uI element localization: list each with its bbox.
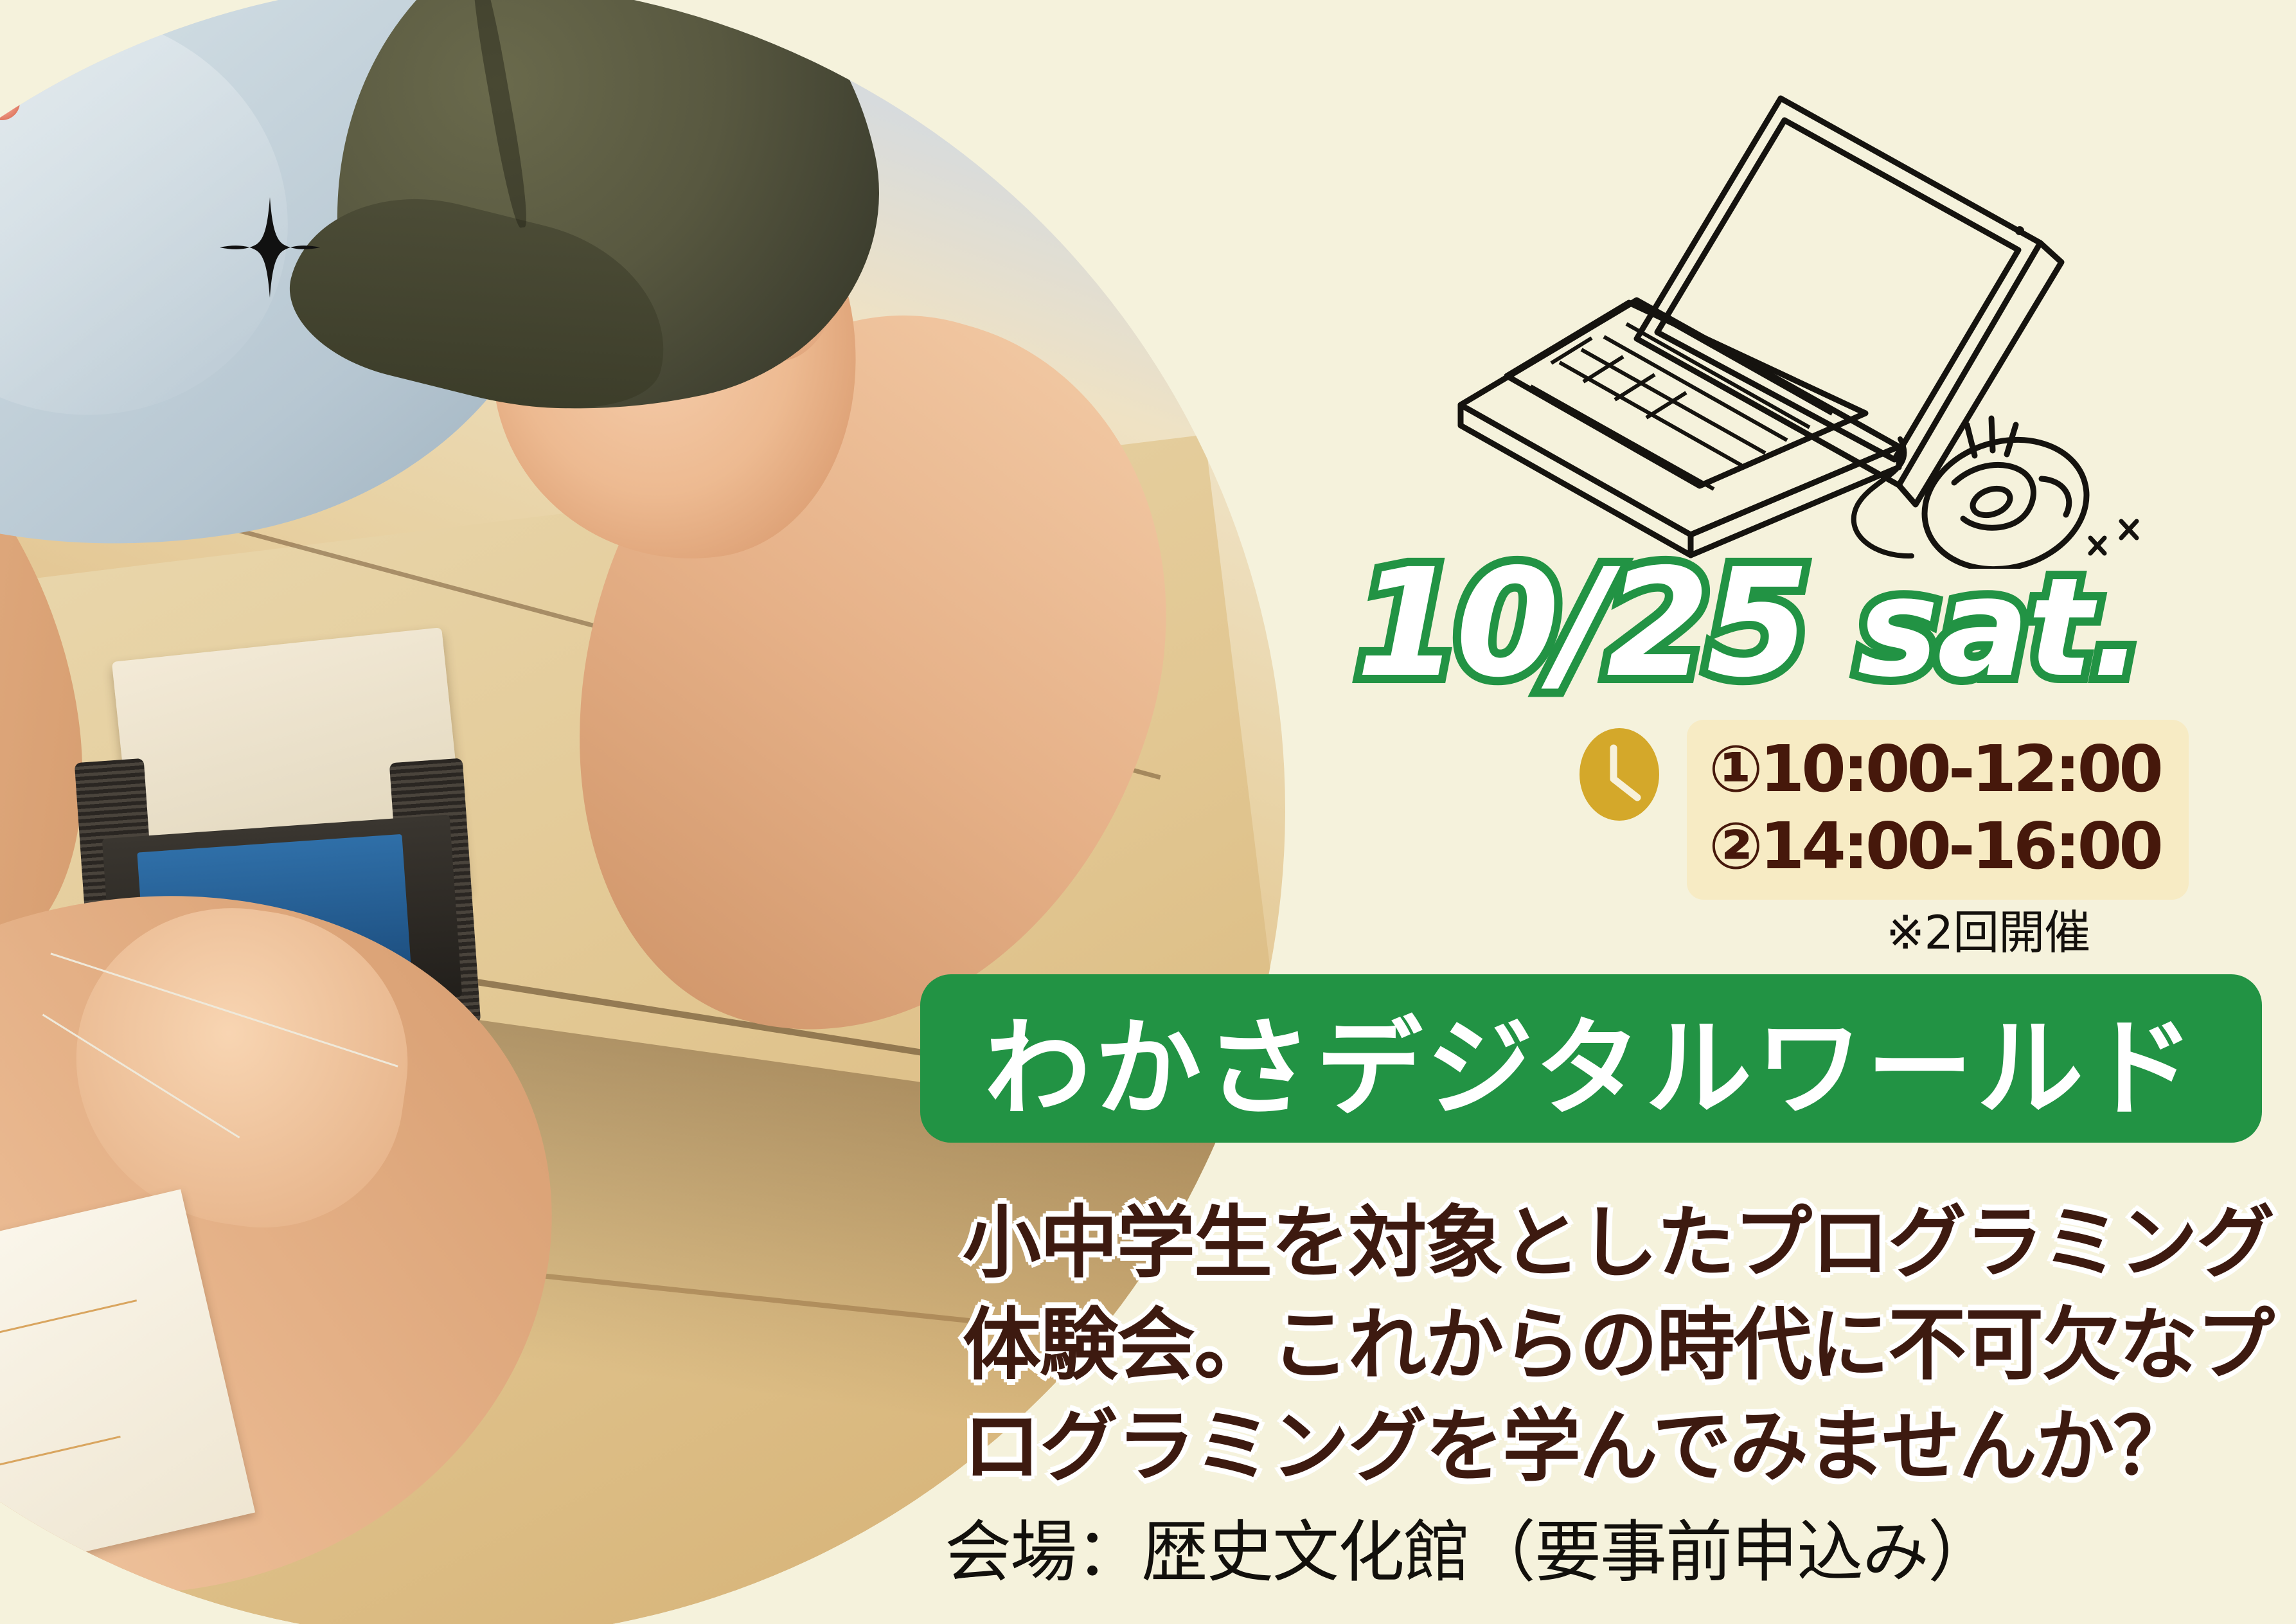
description-line: ログラミングを学んでみませんか？ [963,1396,2286,1498]
session-1: ①10:00-12:00 [1709,731,2160,807]
clock-icon [1578,726,1661,823]
click-spark-icon [1967,418,2016,456]
schedule-block: ①10:00-12:00 ②14:00-16:00 [1578,720,2189,900]
sparkle-icon [215,193,325,302]
date-day-of-week: sat. [1857,548,2142,707]
event-title: わかさデジタルワールド [984,981,2198,1136]
poster-root: 学習 mm10° [0,0,2296,1624]
laptop-icon [1461,98,2061,555]
date-value: 10/25 [1356,537,1806,710]
session-2: ②14:00-16:00 [1709,808,2160,884]
laptop-mouse-illustration [1423,61,2214,569]
event-date: 10/25 sat. [1356,537,2142,710]
time-box: ①10:00-12:00 ②14:00-16:00 [1687,720,2189,900]
description-block: 小中学生を対象としたプログラミング 体験会。これからの時代に不可欠なプ ログラミ… [963,1192,2286,1498]
venue-line: 会場：歴史文化館（要事前申込み） [945,1497,1993,1594]
description-line: 体験会。これからの時代に不可欠なプ [963,1294,2286,1396]
description-line: 小中学生を対象としたプログラミング [963,1192,2286,1294]
schedule-note: ※2回開催 [1886,895,2090,962]
title-banner: わかさデジタルワールド [920,974,2262,1143]
